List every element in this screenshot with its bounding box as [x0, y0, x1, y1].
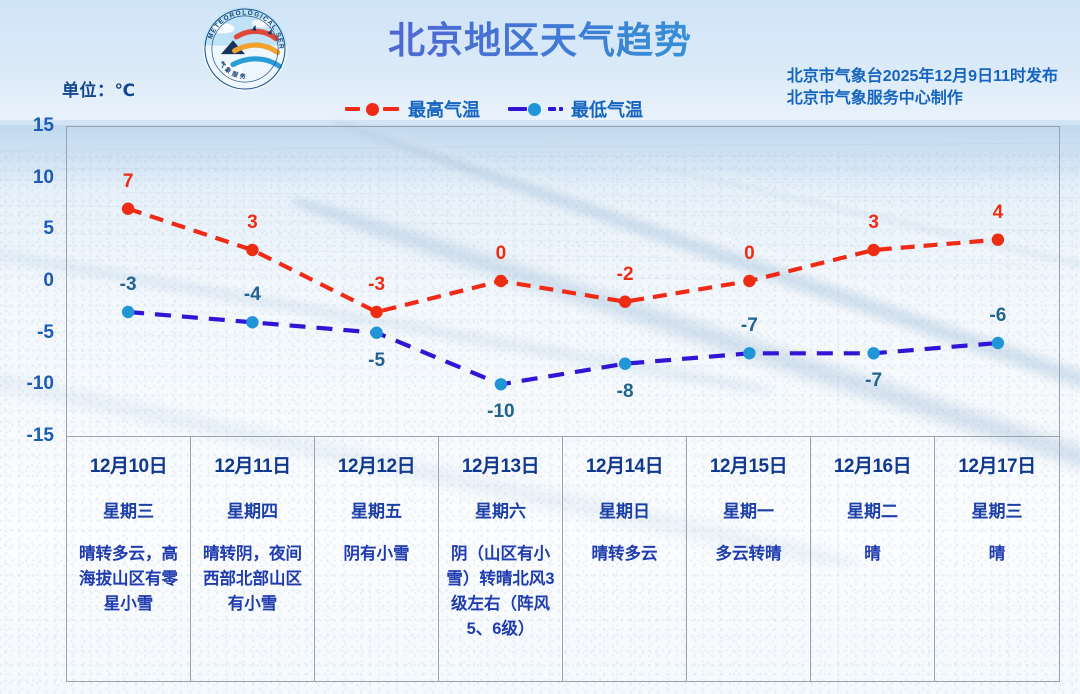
forecast-description: 晴 [817, 542, 928, 567]
forecast-weekday: 星期五 [321, 497, 432, 522]
forecast-date: 12月15日 [693, 451, 804, 478]
legend-label-high: 最高气温 [408, 96, 480, 122]
y-axis-tick: -15 [0, 425, 54, 447]
data-label-high-0: 7 [123, 171, 134, 193]
forecast-column-6[interactable]: 12月16日星期二晴 [811, 437, 935, 681]
forecast-weekday: 星期四 [197, 497, 308, 522]
forecast-date: 12月10日 [73, 451, 184, 478]
data-label-low-2: -5 [368, 350, 385, 372]
forecast-column-4[interactable]: 12月14日星期日晴转多云 [563, 437, 687, 681]
plot-area [66, 126, 1060, 436]
data-label-low-6: -7 [865, 370, 882, 392]
y-axis-tick: -10 [0, 373, 54, 395]
data-label-low-0: -3 [120, 274, 137, 296]
forecast-description: 晴 [941, 542, 1053, 567]
legend-item-low[interactable]: 最低气温 [508, 96, 643, 122]
forecast-date: 12月14日 [569, 451, 680, 478]
forecast-column-3[interactable]: 12月13日星期六阴（山区有小雪）转晴北风3级左右（阵风 5、6级） [439, 437, 563, 681]
data-label-high-4: -2 [617, 264, 634, 286]
forecast-date: 12月11日 [197, 451, 308, 478]
data-label-low-1: -4 [244, 284, 261, 306]
forecast-description: 晴转多云，高海拔山区有零星小雪 [73, 542, 184, 617]
dashed-line-blue-icon [508, 102, 564, 116]
forecast-column-7[interactable]: 12月17日星期三晴 [935, 437, 1059, 681]
data-label-high-3: 0 [496, 243, 507, 265]
data-label-low-4: -8 [617, 381, 634, 403]
forecast-date: 12月13日 [445, 451, 556, 478]
issuer-info: 北京市气象台2025年12月9日11时发布 北京市气象服务中心制作 [787, 66, 1058, 110]
chart-legend: 最高气温 最低气温 [345, 96, 643, 122]
forecast-date: 12月16日 [817, 451, 928, 478]
forecast-column-1[interactable]: 12月11日星期四晴转阴，夜间西部北部山区有小雪 [191, 437, 315, 681]
legend-item-high[interactable]: 最高气温 [345, 96, 480, 122]
page-title: 北京地区天气趋势 [0, 10, 1080, 64]
forecast-weekday: 星期三 [941, 497, 1053, 522]
legend-label-low: 最低气温 [571, 96, 643, 122]
data-label-low-5: -7 [741, 315, 758, 337]
y-axis-tick: 5 [0, 218, 54, 240]
forecast-column-0[interactable]: 12月10日星期三晴转多云，高海拔山区有零星小雪 [67, 437, 191, 681]
forecast-table: 12月10日星期三晴转多云，高海拔山区有零星小雪12月11日星期四晴转阴，夜间西… [66, 436, 1060, 682]
forecast-date: 12月17日 [941, 451, 1053, 478]
issuer-line-2: 北京市气象服务中心制作 [787, 88, 1058, 110]
data-label-low-3: -10 [487, 401, 514, 423]
y-axis-tick: 15 [0, 115, 54, 137]
dashed-line-red-icon [345, 102, 401, 116]
data-label-low-7: -6 [989, 305, 1006, 327]
data-label-high-2: -3 [368, 274, 385, 296]
data-label-high-6: 3 [868, 212, 879, 234]
forecast-weekday: 星期六 [445, 497, 556, 522]
forecast-weekday: 星期日 [569, 497, 680, 522]
forecast-weekday: 星期三 [73, 497, 184, 522]
y-axis-tick: 10 [0, 167, 54, 189]
forecast-date: 12月12日 [321, 451, 432, 478]
forecast-description: 多云转晴 [693, 542, 804, 567]
data-label-high-7: 4 [993, 202, 1004, 224]
forecast-column-5[interactable]: 12月15日星期一多云转晴 [687, 437, 811, 681]
unit-label: 单位：℃ [62, 76, 136, 101]
forecast-description: 晴转阴，夜间西部北部山区有小雪 [197, 542, 308, 617]
forecast-weekday: 星期二 [817, 497, 928, 522]
forecast-column-2[interactable]: 12月12日星期五阴有小雪 [315, 437, 439, 681]
forecast-weekday: 星期一 [693, 497, 804, 522]
forecast-description: 阴有小雪 [321, 542, 432, 567]
data-label-high-1: 3 [247, 212, 258, 234]
data-label-high-5: 0 [744, 243, 755, 265]
forecast-description: 晴转多云 [569, 542, 680, 567]
y-axis-tick: 0 [0, 270, 54, 292]
forecast-description: 阴（山区有小雪）转晴北风3级左右（阵风 5、6级） [445, 542, 556, 642]
weather-trend-infographic: METEOROLOGICAL SERVICE 气象服务 北京地区天气趋势 单位：… [0, 0, 1080, 694]
issuer-line-1: 北京市气象台2025年12月9日11时发布 [787, 66, 1058, 88]
y-axis-tick: -5 [0, 322, 54, 344]
